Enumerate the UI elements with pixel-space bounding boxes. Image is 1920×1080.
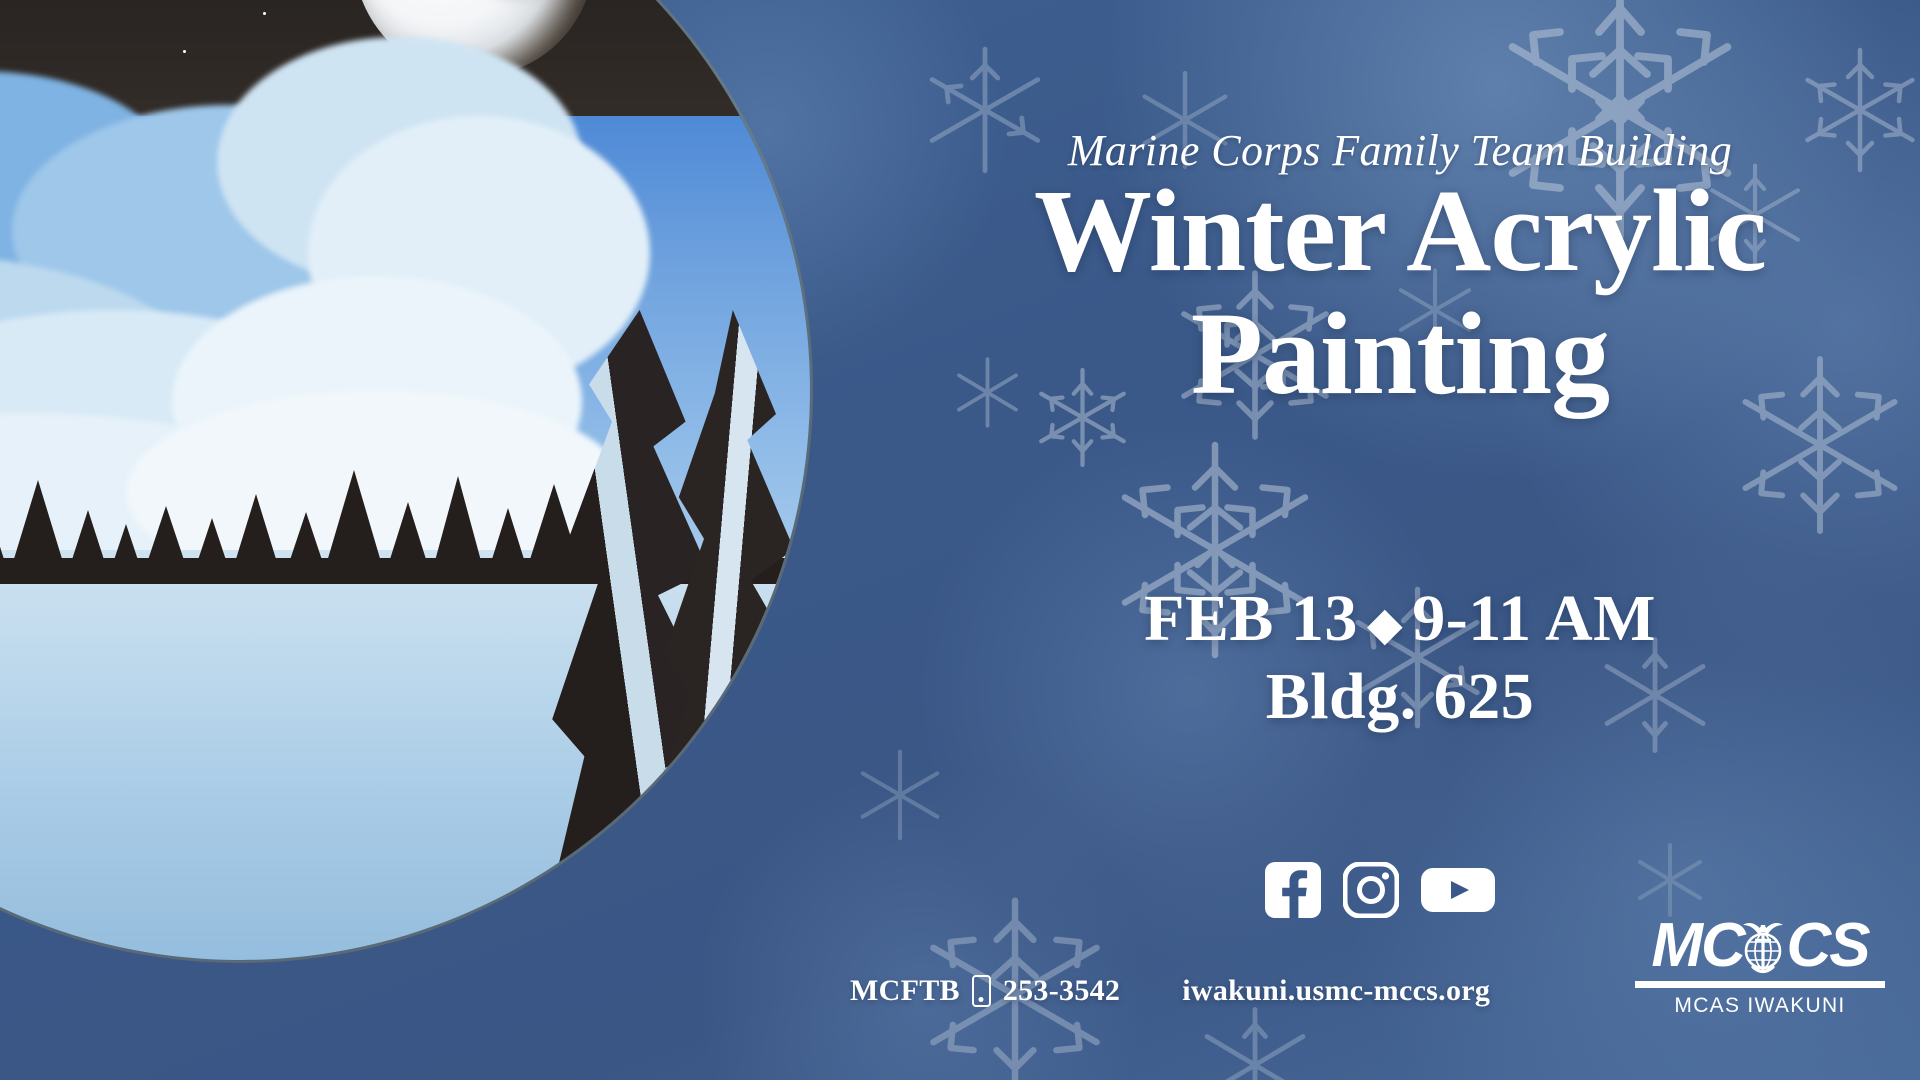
mccs-wordmark-right: CS: [1787, 915, 1869, 977]
mccs-wordmark: MC C CS: [1635, 915, 1885, 977]
event-date: FEB 13: [1144, 582, 1358, 655]
winter-acrylic-painting-flyer: Marine Corps Family Team Building Winter…: [0, 0, 1920, 1080]
winter-painting-artwork: [0, 0, 810, 960]
mccs-installation-name: MCAS IWAKUNI: [1635, 994, 1885, 1018]
eagle-globe-anchor-icon: [1731, 913, 1795, 977]
website-url[interactable]: iwakuni.usmc-mccs.org: [1182, 974, 1490, 1008]
date-time-line: FEB 13◆9-11 AM: [880, 580, 1920, 658]
mccs-wordmark-left: MC: [1651, 915, 1743, 977]
phone-number: 253-3542: [1003, 974, 1120, 1008]
diamond-separator-icon: ◆: [1358, 600, 1412, 649]
event-time: 9-11 AM: [1412, 582, 1656, 655]
mobile-phone-icon: [972, 975, 991, 1007]
title-line-1: Winter Acrylic: [880, 170, 1920, 293]
youtube-icon[interactable]: [1421, 862, 1495, 918]
instagram-icon[interactable]: [1343, 862, 1399, 918]
mccs-divider: [1635, 981, 1885, 988]
event-details: FEB 13◆9-11 AM Bldg. 625: [880, 580, 1920, 736]
page-title: Winter Acrylic Painting: [880, 170, 1920, 415]
contact-row: MCFTB 253-3542 iwakuni.usmc-mccs.org: [850, 974, 1490, 1008]
phone-block: MCFTB 253-3542: [850, 974, 1120, 1008]
facebook-icon[interactable]: [1265, 862, 1321, 918]
social-links: [1265, 862, 1495, 918]
event-location: Bldg. 625: [880, 658, 1920, 736]
title-line-2: Painting: [880, 293, 1920, 416]
contact-label: MCFTB: [850, 974, 960, 1008]
mccs-logo: MC C CS MCAS IWAKUNI: [1635, 915, 1885, 1018]
